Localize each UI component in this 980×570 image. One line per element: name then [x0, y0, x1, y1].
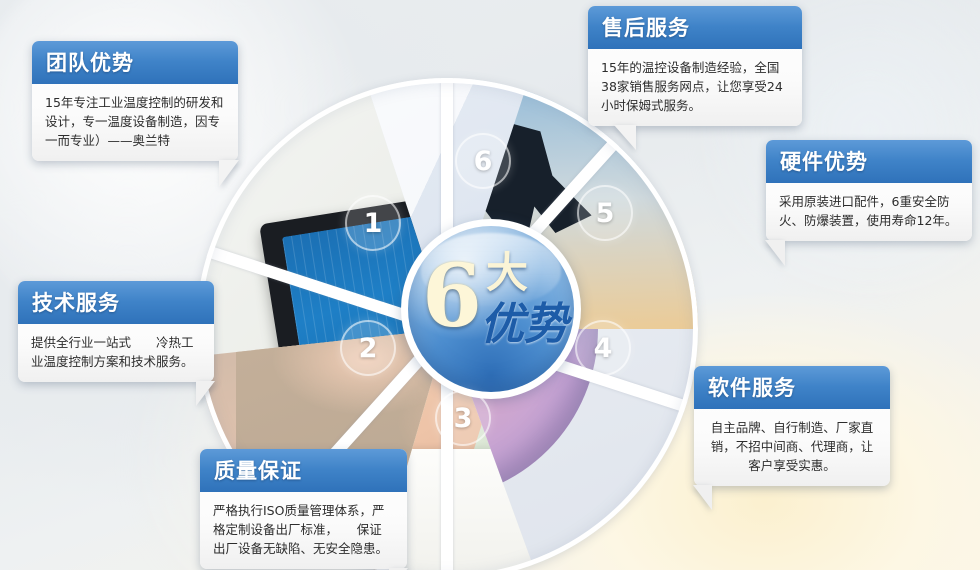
- segment-number-4[interactable]: 4: [575, 320, 631, 376]
- callout-technical-tail: [196, 381, 215, 406]
- callout-after-sales-body: 15年的温控设备制造经验，全国38家销售服务网点，让您享受24小时保姆式服务。: [588, 49, 802, 126]
- callout-software-service[interactable]: 软件服务 自主品牌、自行制造、厂家直销，不招中间商、代理商，让客户享受实惠。: [694, 366, 890, 486]
- callout-hardware-advantage[interactable]: 硬件优势 采用原装进口配件，6重安全防火、防爆装置，使用寿命12年。: [766, 140, 972, 241]
- callout-team-advantage[interactable]: 团队优势 15年专注工业温度控制的研发和设计，专一温度设备制造，因专一而专业）—…: [32, 41, 238, 161]
- callout-hardware-tail: [765, 240, 785, 266]
- center-badge: 6 大 优势: [401, 219, 581, 399]
- callout-hardware-title: 硬件优势: [766, 140, 972, 183]
- callout-quality-assurance[interactable]: 质量保证 严格执行ISO质量管理体系，严格定制设备出厂标准， 保证出厂设备无缺陷…: [200, 449, 407, 569]
- infographic-canvas: 6 大 优势 1 2 3 4 5 6 团队优势 15年专注工业温度控制的研发和设…: [0, 0, 980, 570]
- center-big-char: 大: [486, 252, 528, 294]
- callout-technical-service[interactable]: 技术服务 提供全行业一站式 冷热工业温度控制方案和技术服务。: [18, 281, 214, 382]
- callout-after-sales[interactable]: 售后服务 15年的温控设备制造经验，全国38家销售服务网点，让您享受24小时保姆…: [588, 6, 802, 126]
- segment-number-5[interactable]: 5: [577, 185, 633, 241]
- callout-software-tail: [693, 485, 712, 510]
- callout-technical-title: 技术服务: [18, 281, 214, 324]
- callout-software-body: 自主品牌、自行制造、厂家直销，不招中间商、代理商，让客户享受实惠。: [694, 409, 890, 486]
- callout-quality-body: 严格执行ISO质量管理体系，严格定制设备出厂标准， 保证出厂设备无缺陷、无安全隐…: [200, 492, 407, 569]
- callout-team-title: 团队优势: [32, 41, 238, 84]
- segment-number-6[interactable]: 6: [455, 133, 511, 189]
- center-script-text: 优势: [480, 302, 568, 348]
- callout-after-sales-tail: [614, 125, 636, 150]
- segment-number-2[interactable]: 2: [340, 320, 396, 376]
- callout-hardware-body: 采用原装进口配件，6重安全防火、防爆装置，使用寿命12年。: [766, 183, 972, 241]
- center-number: 6: [422, 254, 482, 340]
- callout-after-sales-title: 售后服务: [588, 6, 802, 49]
- center-badge-inner: 6 大 优势: [408, 226, 574, 392]
- callout-technical-body: 提供全行业一站式 冷热工业温度控制方案和技术服务。: [18, 324, 214, 382]
- callout-team-body: 15年专注工业温度控制的研发和设计，专一温度设备制造，因专一而专业）——奥兰特: [32, 84, 238, 161]
- segment-number-3[interactable]: 3: [435, 390, 491, 446]
- callout-quality-title: 质量保证: [200, 449, 407, 492]
- callout-software-title: 软件服务: [694, 366, 890, 409]
- segment-number-1[interactable]: 1: [345, 195, 401, 251]
- callout-team-tail: [219, 160, 239, 187]
